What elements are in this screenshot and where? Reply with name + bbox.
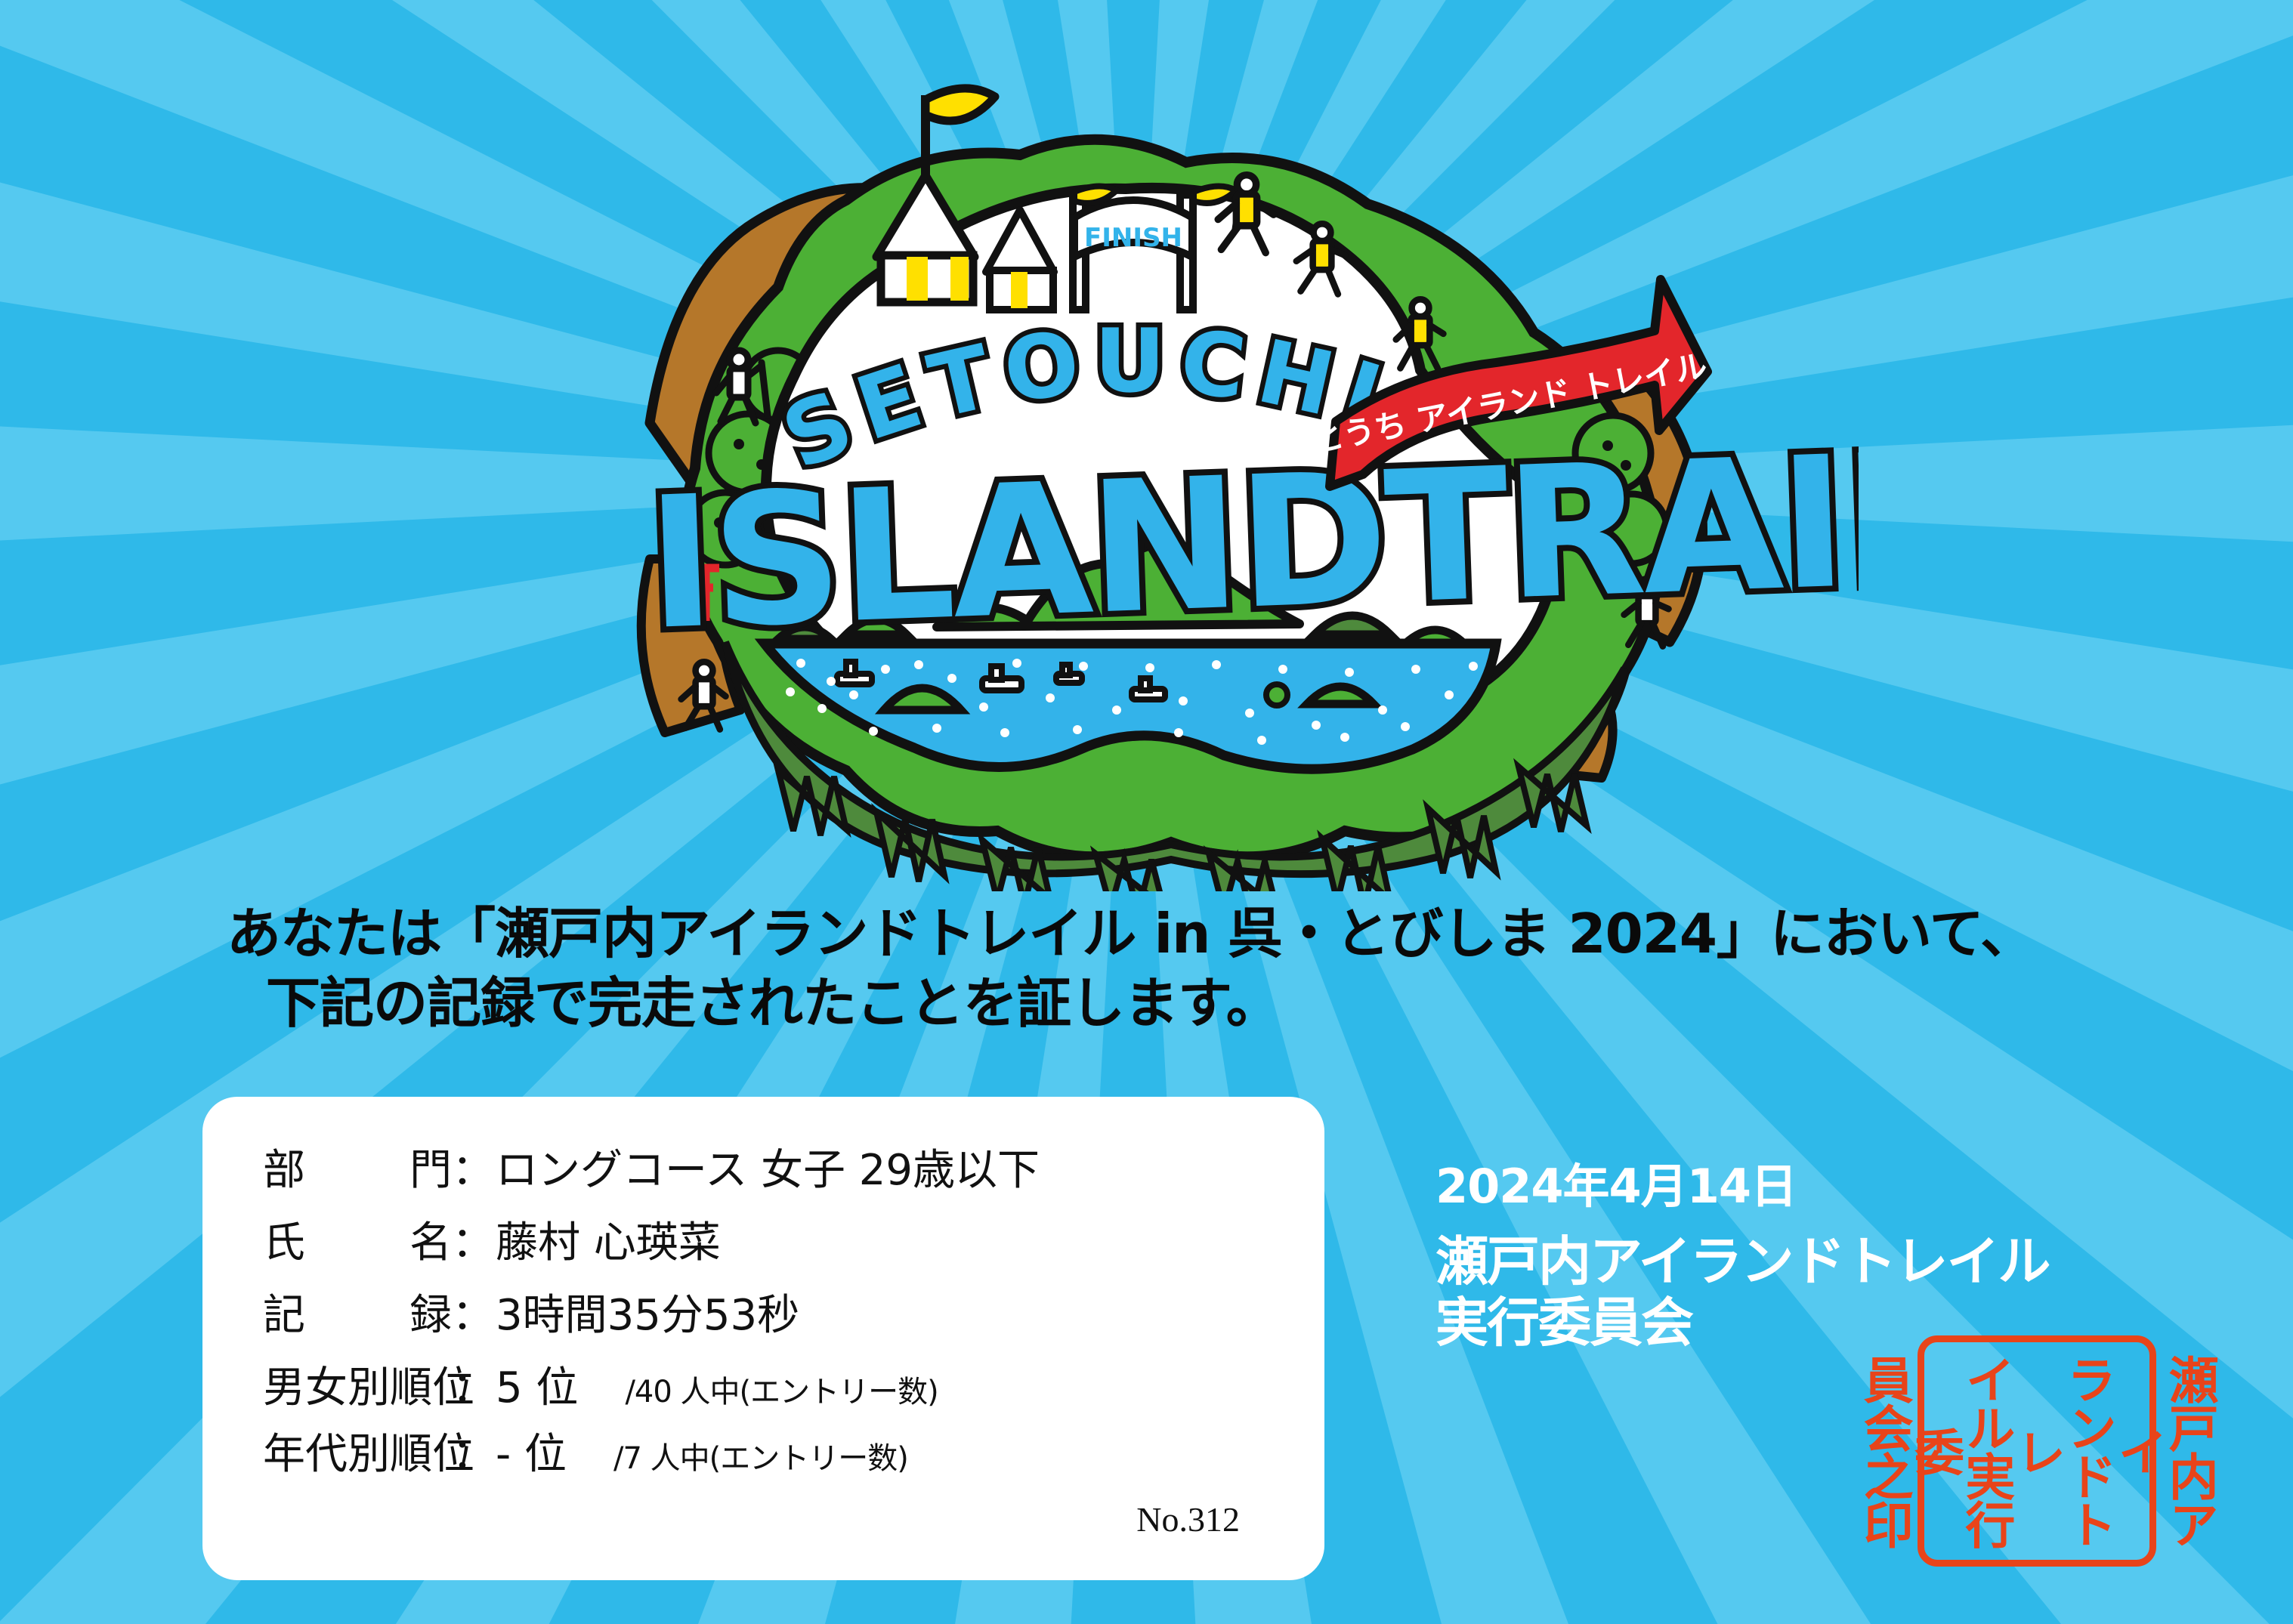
- row-label: 部門: [202, 1136, 452, 1197]
- row-colon: ：: [452, 1136, 496, 1197]
- table-row: 年代別順位 ： - 位 /7 人中(エントリー数): [202, 1420, 1324, 1487]
- event-logo-illustration: FINISH: [423, 30, 1859, 891]
- event-logo: FINISH: [423, 30, 1859, 891]
- finish-banner-label: FINISH: [1084, 223, 1182, 253]
- statement-line-1: あなたは「瀬戸内アイランドトレイル in 呉・とびしま 2024」において、: [227, 902, 2034, 965]
- certificate-statement: あなたは「瀬戸内アイランドトレイル in 呉・とびしま 2024」において、 下…: [227, 899, 2115, 1038]
- table-row: 部門 ： ロングコース 女子 29歳以下: [202, 1136, 1324, 1209]
- row-value: ロングコース 女子 29歳以下: [496, 1136, 1040, 1197]
- bib-number: No.312: [1136, 1499, 1240, 1539]
- table-row: 氏名 ： 藤村 心瑛菜: [202, 1209, 1324, 1281]
- row-label: 記録: [202, 1281, 452, 1342]
- seal-column-4: 員会之印: [1859, 1348, 1909, 1554]
- statement-line-2: 下記の記録で完走されたことを証します。: [266, 968, 2115, 1038]
- row-colon: ：: [452, 1209, 496, 1270]
- organizer-name-line-1: 瀬戸内アイランドトレイル: [1435, 1231, 2251, 1292]
- seal-column-3: イル実行委: [1910, 1348, 2012, 1554]
- result-info-card: 部門 ： ロングコース 女子 29歳以下 氏名 ： 藤村 心瑛菜 記録 ： 3時…: [202, 1097, 1324, 1580]
- row-colon: ：: [452, 1420, 496, 1481]
- row-suffix: /7 人中(エントリー数): [567, 1434, 908, 1477]
- row-colon: ：: [452, 1354, 496, 1415]
- row-suffix: /40 人中(エントリー数): [578, 1367, 938, 1411]
- row-colon: ：: [452, 1281, 496, 1342]
- seal-column-2: ランドトレ: [2011, 1348, 2113, 1554]
- row-value: 5 位: [496, 1354, 578, 1415]
- row-value: 3時間35分53秒: [496, 1281, 799, 1342]
- row-label: 年代別順位: [202, 1420, 452, 1481]
- seal-column-1: 瀬戸内アイ: [2113, 1348, 2215, 1554]
- issue-date: 2024年4月14日: [1435, 1163, 2251, 1210]
- table-row: 記録 ： 3時間35分53秒: [202, 1281, 1324, 1354]
- row-value: 藤村 心瑛菜: [496, 1209, 721, 1270]
- row-label: 氏名: [202, 1209, 452, 1270]
- official-seal: 瀬戸内アイ ランドトレ イル実行委 員会之印: [1918, 1335, 2156, 1567]
- organizer-block: 2024年4月14日 瀬戸内アイランドトレイル 実行委員会: [1435, 1163, 2251, 1354]
- row-label: 男女別順位: [202, 1354, 452, 1415]
- row-value: - 位: [496, 1420, 567, 1481]
- table-row: 男女別順位 ： 5 位 /40 人中(エントリー数): [202, 1354, 1324, 1420]
